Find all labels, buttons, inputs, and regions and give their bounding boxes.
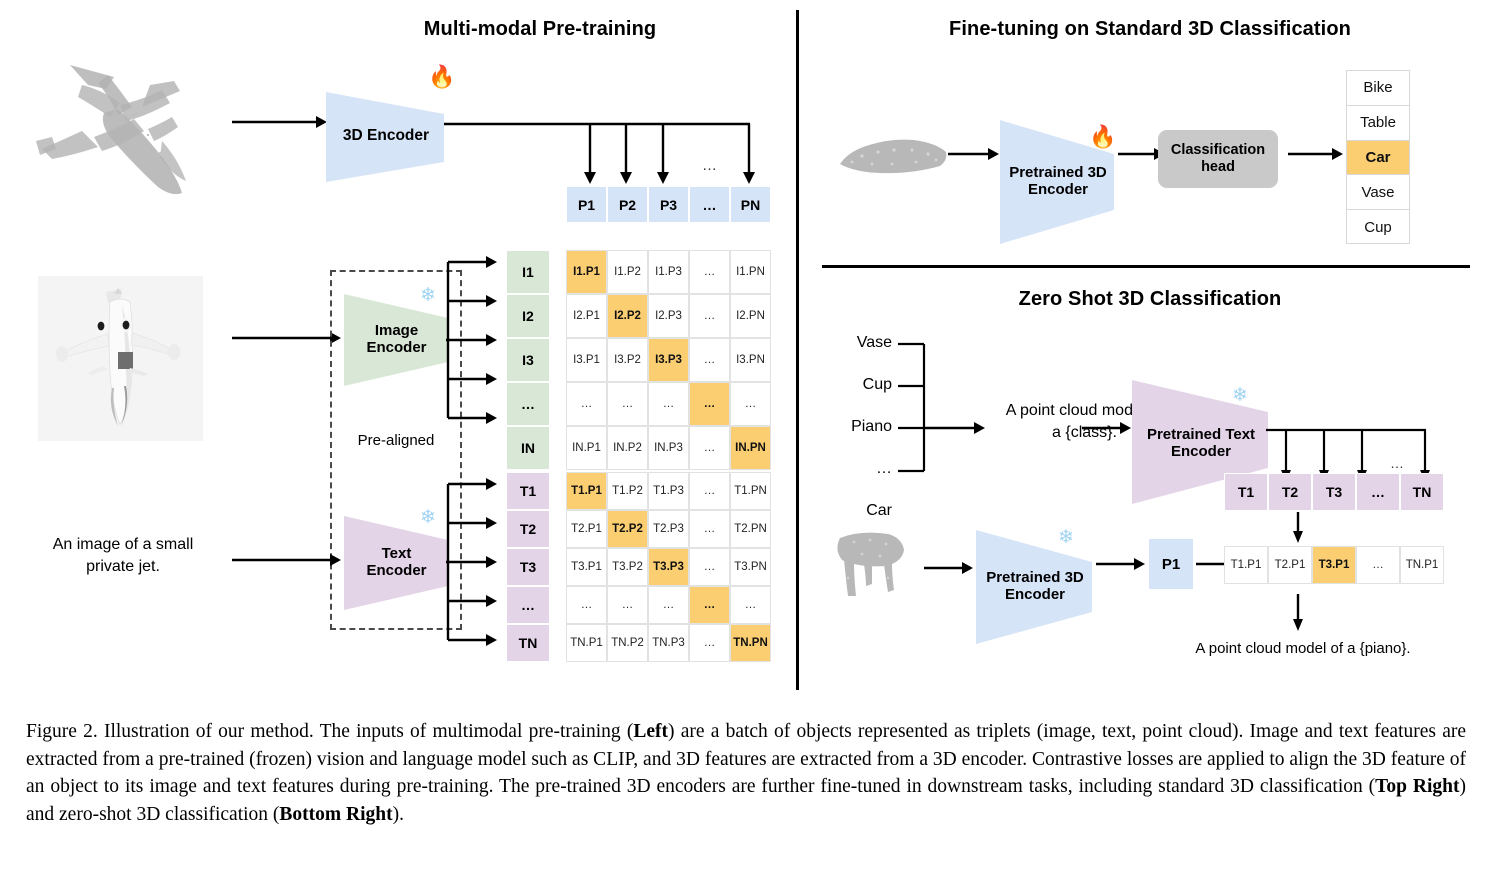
matrix-row: IN.P1IN.P2IN.P3…IN.PN: [566, 426, 771, 470]
snowflake-icon-image-encoder: ❄: [420, 286, 436, 305]
arrow-pointcloud-to-3d-encoder: [232, 114, 328, 130]
matrix-cell: …: [730, 586, 771, 624]
pretrained-3d-encoder-label-1: Pretrained 3D: [1009, 165, 1107, 182]
zeroshot-result-text: A point cloud model of a {piano}.: [1148, 640, 1458, 657]
p-token-row: P1P2P3…PN: [566, 186, 771, 223]
similarity-cell-selected: T3.P1: [1312, 546, 1356, 584]
arrow-encoder-to-p1: [1096, 556, 1146, 572]
token-cell: P3: [648, 186, 689, 223]
class-list-item[interactable]: Car: [1347, 141, 1409, 176]
token-cell: T3: [506, 548, 550, 586]
token-cell: …: [689, 186, 730, 223]
matrix-cell: …: [689, 510, 730, 548]
caption-prefix: Figure 2. Illustration of our method. Th…: [26, 721, 633, 742]
token-cell: …: [1356, 473, 1400, 511]
matrix-cell: …: [607, 382, 648, 426]
point-cloud-airplane: [22, 45, 237, 215]
point-cloud-car: [832, 130, 952, 185]
token-cell: T2: [1268, 473, 1312, 511]
pretrained-3d-encoder-zeroshot-label-1: Pretrained 3D: [986, 570, 1084, 587]
figure-canvas: Multi-modal Pre-training 3D E: [0, 0, 1490, 710]
matrix-cell: I1.P3: [648, 250, 689, 294]
text-encoder-fanout-arrows: [446, 472, 508, 652]
input-text-line2: private jet.: [28, 556, 218, 578]
matrix-cell: I1.PN: [730, 250, 771, 294]
class-list-item[interactable]: Table: [1347, 106, 1409, 141]
matrix-cell: I1.P2: [607, 250, 648, 294]
matrix-cell: …: [730, 382, 771, 426]
token-cell: T3: [1312, 473, 1356, 511]
zeroshot-class-name: Cup: [826, 378, 892, 420]
matrix-cell: …: [689, 472, 730, 510]
class-list-bracket: [890, 340, 1000, 476]
matrix-cell: …: [689, 294, 730, 338]
token-cell: P2: [607, 186, 648, 223]
matrix-cell-diagonal: TN.PN: [730, 624, 771, 662]
matrix-cell: I2.P3: [648, 294, 689, 338]
matrix-cell-diagonal: T2.P2: [607, 510, 648, 548]
svg-text:…: …: [702, 157, 717, 174]
matrix-cell: T1.P3: [648, 472, 689, 510]
text-encoder-label-1: Text: [366, 546, 426, 563]
arrow-prompt-to-text-encoder: [1082, 420, 1132, 436]
matrix-cell: T3.PN: [730, 548, 771, 586]
matrix-cell: TN.P1: [566, 624, 607, 662]
similarity-cell: …: [1356, 546, 1400, 584]
matrix-cell: I3.PN: [730, 338, 771, 382]
matrix-row: T2.P1T2.P2T2.P3…T2.PN: [566, 510, 771, 548]
class-list-box[interactable]: BikeTableCarVaseCup: [1346, 70, 1410, 244]
matrix-cell-diagonal: T3.P3: [648, 548, 689, 586]
matrix-cell-diagonal: T1.P1: [566, 472, 607, 510]
matrix-cell-diagonal: I1.P1: [566, 250, 607, 294]
matrix-row: TN.P1TN.P2TN.P3…TN.PN: [566, 624, 771, 662]
matrix-cell: TN.P3: [648, 624, 689, 662]
prealigned-label: Pre-aligned: [330, 432, 462, 449]
matrix-row: I2.P1I2.P2I2.P3…I2.PN: [566, 294, 771, 338]
panel-divider-vertical: [796, 10, 799, 690]
matrix-cell: T1.PN: [730, 472, 771, 510]
token-cell: TN: [1400, 473, 1444, 511]
caption-bold-bottomright: Bottom Right: [279, 804, 392, 825]
classification-head-label-1: Classification: [1171, 142, 1265, 159]
token-cell: T1: [1224, 473, 1268, 511]
classification-head-box[interactable]: Classification head: [1158, 130, 1278, 188]
matrix-cell: …: [689, 338, 730, 382]
text-similarity-matrix: T1.P1T1.P2T1.P3…T1.PNT2.P1T2.P2T2.P3…T2.…: [566, 472, 771, 662]
pretrained-text-encoder-label-2: Encoder: [1147, 444, 1255, 461]
snowflake-icon-text-encoder: ❄: [420, 508, 436, 527]
token-cell: P1: [566, 186, 607, 223]
caption-bold-left: Left: [633, 721, 668, 742]
matrix-cell: …: [689, 250, 730, 294]
matrix-cell-diagonal: …: [689, 382, 730, 426]
zeroshot-class-list: VaseCupPiano…Car: [826, 336, 892, 546]
pretrained-3d-encoder-zeroshot-label-2: Encoder: [986, 587, 1084, 604]
snowflake-icon-text-encoder-zeroshot: ❄: [1232, 386, 1248, 405]
image-similarity-matrix: I1.P1I1.P2I1.P3…I1.PNI2.P1I2.P2I2.P3…I2.…: [566, 250, 771, 470]
matrix-cell: T2.PN: [730, 510, 771, 548]
pretrained-3d-encoder-box-zeroshot[interactable]: Pretrained 3D Encoder: [976, 522, 1094, 652]
token-cell: …: [506, 382, 550, 426]
matrix-cell: …: [689, 548, 730, 586]
matrix-cell: T2.P1: [566, 510, 607, 548]
matrix-cell: I2.P1: [566, 294, 607, 338]
fire-icon: 🔥: [428, 66, 455, 88]
matrix-cell: T3.P1: [566, 548, 607, 586]
top-right-panel-title: Fine-tuning on Standard 3D Classificatio…: [830, 18, 1470, 41]
arrow-similarity-to-result: [1290, 594, 1306, 632]
matrix-cell: IN.P2: [607, 426, 648, 470]
token-cell: TN: [506, 624, 550, 662]
pretrained-3d-encoder-label-2: Encoder: [1009, 182, 1107, 199]
matrix-cell: …: [566, 382, 607, 426]
zeroshot-class-name: …: [826, 462, 892, 504]
matrix-cell: T2.P3: [648, 510, 689, 548]
arrow-car-to-pretrained-3d-encoder: [948, 146, 1000, 162]
matrix-cell: …: [648, 382, 689, 426]
figure-caption: Figure 2. Illustration of our method. Th…: [26, 718, 1466, 829]
caption-seg3: ).: [393, 804, 404, 825]
zeroshot-class-name: Vase: [826, 336, 892, 378]
matrix-row: T3.P1T3.P2T3.P3…T3.PN: [566, 548, 771, 586]
input-image-thumbnail: [38, 276, 203, 441]
3d-encoder-label: 3D Encoder: [343, 127, 429, 144]
matrix-cell: IN.P3: [648, 426, 689, 470]
arrow-image-to-image-encoder: [232, 330, 342, 346]
matrix-cell: T1.P2: [607, 472, 648, 510]
token-cell: T2: [506, 510, 550, 548]
3d-encoder-box[interactable]: 3D Encoder: [326, 88, 446, 186]
input-text-caption: An image of a small private jet.: [28, 534, 218, 577]
matrix-row: I1.P1I1.P2I1.P3…I1.PN: [566, 250, 771, 294]
matrix-cell-diagonal: IN.PN: [730, 426, 771, 470]
arrow-t-tokens-to-similarity-row: [1290, 512, 1306, 544]
matrix-cell: I2.PN: [730, 294, 771, 338]
image-encoder-fanout-arrows: [446, 250, 508, 430]
matrix-cell: …: [566, 586, 607, 624]
token-cell: IN: [506, 426, 550, 470]
zeroshot-t-token-row: T1T2T3…TN: [1224, 473, 1444, 511]
i-token-column: I1I2I3…IN: [506, 250, 550, 470]
class-list-item[interactable]: Vase: [1347, 175, 1409, 210]
3d-encoder-fanout-arrows: …: [444, 118, 784, 190]
snowflake-icon-3d-encoder-zeroshot: ❄: [1058, 528, 1074, 547]
matrix-cell: …: [607, 586, 648, 624]
point-cloud-piano: [830, 522, 918, 606]
bottom-right-panel-title: Zero Shot 3D Classification: [830, 288, 1470, 311]
zeroshot-similarity-row: T1.P1T2.P1T3.P1…TN.P1: [1224, 546, 1444, 584]
matrix-cell: IN.P1: [566, 426, 607, 470]
matrix-cell-diagonal: I3.P3: [648, 338, 689, 382]
left-panel-title: Multi-modal Pre-training: [280, 18, 800, 41]
token-cell: I1: [506, 250, 550, 294]
similarity-cell: TN.P1: [1400, 546, 1444, 584]
image-encoder-label-1: Image: [366, 323, 426, 340]
matrix-cell: …: [689, 624, 730, 662]
input-text-line1: An image of a small: [28, 534, 218, 556]
matrix-row: ……………: [566, 586, 771, 624]
similarity-cell: T1.P1: [1224, 546, 1268, 584]
fire-icon-finetune: 🔥: [1089, 126, 1116, 148]
pretrained-text-encoder-label-1: Pretrained Text: [1147, 427, 1255, 444]
token-cell: I2: [506, 294, 550, 338]
matrix-cell-diagonal: …: [689, 586, 730, 624]
matrix-cell: I3.P1: [566, 338, 607, 382]
token-cell: PN: [730, 186, 771, 223]
class-list-item[interactable]: Bike: [1347, 71, 1409, 106]
class-list-item[interactable]: Cup: [1347, 210, 1409, 245]
image-encoder-label-2: Encoder: [366, 340, 426, 357]
matrix-cell: T3.P2: [607, 548, 648, 586]
similarity-cell: T2.P1: [1268, 546, 1312, 584]
arrow-piano-to-pretrained-3d-encoder: [924, 560, 974, 576]
arrow-head-to-classes: [1288, 146, 1344, 162]
token-cell: …: [506, 586, 550, 624]
matrix-cell-diagonal: I2.P2: [607, 294, 648, 338]
text-encoder-label-2: Encoder: [366, 563, 426, 580]
classification-head-label-2: head: [1171, 159, 1265, 176]
zeroshot-class-name: Piano: [826, 420, 892, 462]
matrix-row: ……………: [566, 382, 771, 426]
svg-text:…: …: [1390, 455, 1404, 471]
matrix-row: T1.P1T1.P2T1.P3…T1.PN: [566, 472, 771, 510]
t-token-column: T1T2T3…TN: [506, 472, 550, 662]
matrix-cell: I3.P2: [607, 338, 648, 382]
matrix-cell: …: [689, 426, 730, 470]
token-cell: I3: [506, 338, 550, 382]
panel-divider-horizontal: [822, 265, 1470, 268]
p1-token-zeroshot: P1: [1148, 538, 1194, 590]
token-cell: T1: [506, 472, 550, 510]
matrix-cell: …: [648, 586, 689, 624]
matrix-row: I3.P1I3.P2I3.P3…I3.PN: [566, 338, 771, 382]
caption-bold-topright: Top Right: [1375, 776, 1459, 797]
arrow-text-to-text-encoder: [232, 552, 342, 568]
matrix-cell: TN.P2: [607, 624, 648, 662]
